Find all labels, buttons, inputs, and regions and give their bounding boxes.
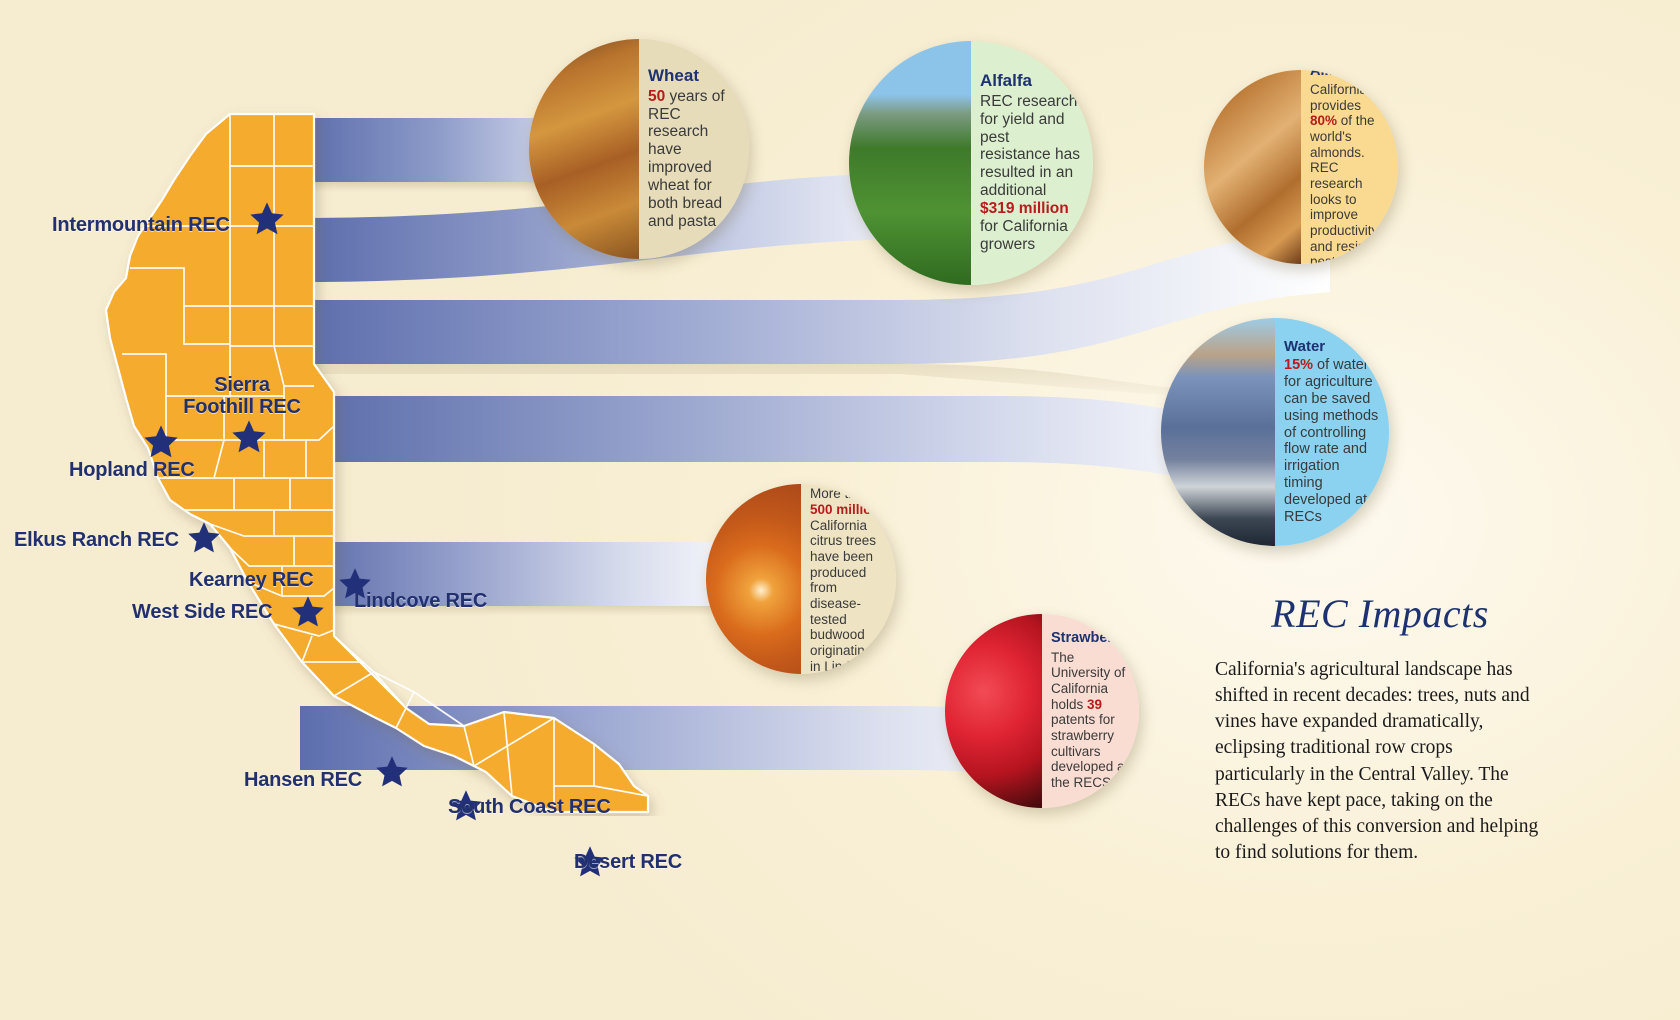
bubble-water[interactable]: Water 15% of water for agriculture can b… [1161, 318, 1389, 546]
bubble-strawberries[interactable]: Strawberries The University of Californi… [945, 614, 1139, 808]
strawberries-photo [945, 614, 1042, 808]
star-marker-hopland[interactable] [142, 423, 180, 461]
rec-label-hansen[interactable]: Hansen REC [244, 769, 362, 791]
alfalfa-field-photo [849, 41, 971, 285]
almonds-photo [1204, 70, 1301, 264]
bubble-water-body: 15% of water for agriculture can be save… [1284, 357, 1379, 525]
rec-label-south-coast[interactable]: South Coast REC [448, 796, 611, 818]
bubble-wheat-text: Wheat 50 years of REC research have impr… [639, 39, 749, 259]
rec-impacts-title: REC Impacts [1215, 590, 1545, 637]
bubble-citrus[interactable]: Citrus More than 500 million California … [706, 484, 896, 674]
bubble-citrus-post: California citrus trees have been produc… [810, 518, 878, 674]
rec-label-elkus-ranch[interactable]: Elkus Ranch REC [14, 529, 179, 551]
rec-label-kearney[interactable]: Kearney REC [189, 569, 314, 591]
bubble-wheat-post: years of REC research have improved whea… [648, 88, 725, 231]
bubble-water-highlight: 15% [1284, 357, 1313, 373]
bubble-almonds[interactable]: Almonds California provides 80% of the w… [1204, 70, 1398, 264]
bubble-water-title: Water [1284, 339, 1379, 355]
bubble-citrus-highlight: 500 million [810, 502, 880, 517]
bubble-water-post: of water for agriculture can be saved us… [1284, 357, 1378, 524]
rec-label-desert[interactable]: Desert REC [574, 851, 682, 873]
bubble-citrus-pre: More than [810, 486, 871, 501]
bubble-strawberries-body: The University of California holds 39 pa… [1051, 650, 1129, 791]
star-marker-elkus-ranch[interactable] [186, 520, 222, 556]
rec-label-hopland[interactable]: Hopland REC [69, 459, 195, 481]
bubble-wheat-title: Wheat [648, 67, 739, 85]
bubble-strawberries-post: patents for strawberry cultivars develop… [1051, 712, 1128, 790]
rec-impacts-panel: REC Impacts California's agricultural la… [1215, 590, 1545, 866]
bubble-alfalfa-text: Alfalfa REC research for yield and pest … [971, 41, 1093, 285]
infographic-canvas: Intermountain REC Sierra Foothill REC Ho… [0, 0, 1680, 1020]
orange-slice-photo [706, 484, 801, 674]
bubble-almonds-text: Almonds California provides 80% of the w… [1301, 70, 1398, 264]
bubble-wheat[interactable]: Wheat 50 years of REC research have impr… [529, 39, 749, 259]
bubble-alfalfa[interactable]: Alfalfa REC research for yield and pest … [849, 41, 1093, 285]
bubble-citrus-text: Citrus More than 500 million California … [801, 484, 896, 674]
star-marker-intermountain[interactable] [248, 200, 286, 238]
bubble-almonds-post: of the world's almonds. REC research loo… [1310, 113, 1378, 264]
irrigation-canal-photo [1161, 318, 1275, 546]
rec-label-west-side[interactable]: West Side REC [132, 601, 272, 623]
rec-label-sierra-foothill-text: Sierra Foothill REC [183, 374, 301, 418]
bubble-wheat-body: 50 years of REC research have improved w… [648, 88, 739, 232]
rec-impacts-body: California's agricultural landscape has … [1215, 657, 1545, 866]
bubble-alfalfa-post: for California growers [980, 218, 1068, 253]
bubble-almonds-body: California provides 80% of the world's a… [1310, 82, 1388, 264]
bubble-alfalfa-body: REC research for yield and pest resistan… [980, 93, 1083, 255]
bubble-strawberries-highlight: 39 [1087, 697, 1102, 712]
bubble-almonds-highlight: 80% [1310, 113, 1337, 128]
star-marker-west-side[interactable] [290, 594, 326, 630]
wheat-field-photo [529, 39, 639, 259]
star-marker-hansen[interactable] [374, 754, 410, 790]
rec-label-lindcove[interactable]: Lindcove REC [354, 590, 487, 612]
bubble-water-text: Water 15% of water for agriculture can b… [1275, 318, 1389, 546]
bubble-strawberries-title: Strawberries [1051, 631, 1129, 646]
bubble-alfalfa-title: Alfalfa [980, 72, 1083, 90]
rec-label-sierra-foothill[interactable]: Sierra Foothill REC [167, 374, 317, 419]
star-marker-sierra-foothill[interactable] [230, 418, 268, 456]
bubble-alfalfa-pre: REC research for yield and pest resistan… [980, 93, 1080, 200]
bubble-almonds-pre: California provides [1310, 82, 1367, 113]
bubble-alfalfa-highlight: $319 million [980, 200, 1069, 217]
bubble-citrus-body: More than 500 million California citrus … [810, 486, 886, 674]
bubble-strawberries-text: Strawberries The University of Californi… [1042, 614, 1139, 808]
bubble-almonds-title: Almonds [1310, 70, 1388, 79]
bubble-wheat-highlight: 50 [648, 88, 665, 105]
rec-label-intermountain[interactable]: Intermountain REC [52, 214, 230, 236]
